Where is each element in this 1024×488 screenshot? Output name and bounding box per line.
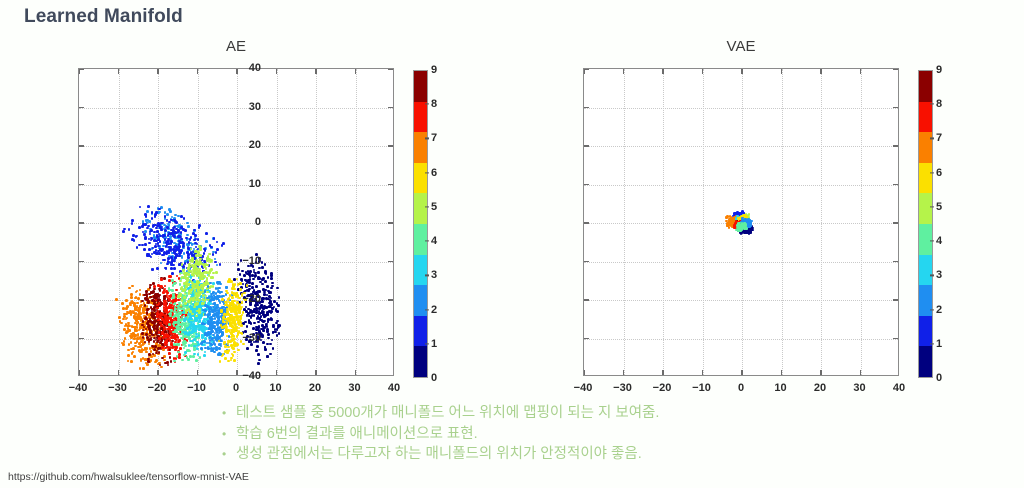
scatter-point	[218, 347, 221, 350]
axis-tick-y	[388, 338, 393, 339]
scatter-point	[260, 312, 263, 315]
scatter-point	[227, 343, 230, 346]
scatter-point	[267, 306, 270, 309]
colorbar-tick	[425, 206, 429, 207]
scatter-point	[137, 317, 140, 320]
y-axis-labels-ae: −40−30−20−10010203040	[30, 68, 74, 376]
scatter-point	[185, 341, 188, 344]
scatter-point	[156, 315, 159, 318]
scatter-point	[184, 229, 187, 232]
scatter-point	[231, 346, 234, 349]
scatter-point	[210, 277, 213, 280]
axis-tick-x	[355, 370, 356, 375]
scatter-point	[149, 233, 152, 236]
scatter-point	[190, 318, 193, 321]
scatter-point	[128, 343, 131, 346]
scatter-point	[264, 270, 267, 273]
scatter-point	[250, 322, 253, 325]
scatter-point	[122, 318, 125, 321]
scatter-point	[212, 310, 215, 313]
scatter-point	[179, 347, 182, 350]
axis-tick-y	[79, 261, 84, 262]
scatter-point	[204, 329, 207, 332]
scatter-point	[234, 283, 237, 286]
scatter-point	[216, 241, 219, 244]
scatter-point	[203, 354, 206, 357]
colorbar-tick-label: 7	[936, 132, 942, 144]
scatter-point	[269, 343, 272, 346]
y-tick-label: −30	[242, 332, 261, 344]
scatter-point	[212, 285, 215, 288]
y-tick-label: 30	[249, 101, 261, 113]
scatter-point	[174, 314, 177, 317]
scatter-point	[122, 307, 125, 310]
axis-tick-y	[893, 68, 898, 69]
scatter-point	[222, 353, 225, 356]
scatter-point	[180, 215, 183, 218]
scatter-point	[184, 262, 187, 265]
axis-tick-y	[584, 222, 589, 223]
scatter-point	[235, 295, 238, 298]
scatter-point	[227, 360, 230, 363]
bullet-text: 테스트 샘플 중 5000개가 매니폴드 어느 위치에 맵핑이 되는 지 보여줌…	[236, 404, 659, 424]
scatter-point	[197, 302, 200, 305]
scatter-point	[204, 309, 207, 312]
scatter-point	[122, 230, 125, 233]
x-tick-label: −10	[187, 382, 206, 394]
scatter-point	[272, 331, 275, 334]
axis-tick-y	[79, 145, 84, 146]
scatter-point	[276, 287, 279, 290]
scatter-point	[209, 269, 212, 272]
scatter-point	[271, 285, 274, 288]
scatter-point	[230, 332, 233, 335]
scatter-point	[253, 308, 256, 311]
scatter-point	[151, 211, 154, 214]
scatter-point	[266, 285, 269, 288]
scatter-point	[132, 332, 135, 335]
scatter-point	[205, 267, 208, 270]
scatter-point	[203, 323, 206, 326]
scatter-point	[173, 219, 176, 222]
scatter-point	[195, 250, 198, 253]
x-tick-label: −40	[574, 382, 593, 394]
scatter-point	[219, 263, 222, 266]
axis-tick-x	[157, 69, 158, 74]
x-tick-label: 30	[348, 382, 360, 394]
scatter-point	[127, 354, 130, 357]
scatter-point	[222, 242, 225, 245]
scatter-point	[115, 298, 118, 301]
scatter-point	[155, 211, 158, 214]
scatter-point	[182, 242, 185, 245]
scatter-point	[261, 266, 264, 269]
x-tick-label: 20	[309, 382, 321, 394]
scatter-point	[188, 292, 191, 295]
scatter-point	[198, 286, 201, 289]
scatter-point	[237, 295, 240, 298]
bullet-text: 학습 6번의 결과를 애니메이션으로 표현.	[236, 425, 478, 445]
scatter-point	[172, 231, 175, 234]
scatter-point	[188, 241, 191, 244]
x-tick-label: −30	[108, 382, 127, 394]
scatter-point	[186, 234, 189, 237]
colorbar-tick-label: 6	[936, 167, 942, 179]
scatter-point	[130, 348, 133, 351]
scatter-point	[202, 294, 205, 297]
scatter-point	[149, 329, 152, 332]
scatter-point	[193, 229, 196, 232]
scatter-point	[278, 296, 281, 299]
scatter-point	[224, 345, 227, 348]
scatter-point	[270, 272, 273, 275]
scatter-point	[179, 323, 182, 326]
scatter-point	[232, 354, 235, 357]
scatter-point	[198, 299, 201, 302]
scatter-point	[200, 347, 203, 350]
scatter-point	[181, 263, 184, 266]
scatter-point	[198, 311, 201, 314]
scatter-point	[179, 240, 182, 243]
scatter-point	[187, 256, 190, 259]
scatter-point	[219, 360, 222, 363]
axis-tick-y	[388, 261, 393, 262]
scatter-point	[206, 342, 209, 345]
scatter-point	[187, 267, 190, 270]
scatter-point	[133, 316, 136, 319]
scatter-point	[748, 213, 751, 216]
scatter-point	[163, 300, 166, 303]
scatter-point	[163, 259, 166, 262]
gridline-horizontal	[584, 339, 898, 340]
scatter-point	[209, 261, 212, 264]
scatter-point	[156, 307, 159, 310]
scatter-point	[164, 211, 167, 214]
scatter-point	[195, 336, 198, 339]
colorbar-band	[414, 255, 427, 286]
gridline-horizontal	[584, 262, 898, 263]
scatter-point	[238, 316, 241, 319]
scatter-point	[241, 270, 244, 273]
scatter-point	[239, 273, 242, 276]
colorbar-band	[919, 71, 932, 102]
scatter-point	[130, 313, 133, 316]
scatter-point	[157, 294, 160, 297]
scatter-point	[161, 254, 164, 257]
scatter-point	[267, 333, 270, 336]
scatter-point	[169, 312, 172, 315]
colorbar-band	[919, 285, 932, 316]
colorbar-tick-label: 5	[431, 201, 437, 213]
scatter-point	[136, 323, 139, 326]
scatter-point	[208, 253, 211, 256]
scatter-point	[269, 302, 272, 305]
scatter-point	[205, 232, 208, 235]
scatter-point	[176, 343, 179, 346]
colorbar-band	[919, 316, 932, 347]
scatter-point	[233, 359, 236, 362]
scatter-point	[183, 296, 186, 299]
colorbar-tick-label: 2	[936, 304, 942, 316]
scatter-point	[202, 298, 205, 301]
scatter-point	[238, 319, 241, 322]
scatter-point	[238, 311, 241, 314]
x-tick-label: 30	[853, 382, 865, 394]
scatter-point	[267, 276, 270, 279]
scatter-point	[257, 278, 260, 281]
scatter-point	[189, 310, 192, 313]
x-tick-label: 10	[269, 382, 281, 394]
colorbar-tick	[930, 309, 934, 310]
axis-tick-x	[741, 69, 742, 74]
scatter-point	[238, 327, 241, 330]
colorbar-tick-label: 8	[431, 98, 437, 110]
scatter-point	[244, 279, 247, 282]
scatter-point	[170, 263, 173, 266]
scatter-point	[250, 343, 253, 346]
scatter-point	[188, 344, 191, 347]
scatter-point	[154, 245, 157, 248]
scatter-point	[183, 282, 186, 285]
axis-tick-x	[118, 370, 119, 375]
scatter-point	[236, 308, 239, 311]
scatter-point	[136, 337, 139, 340]
axis-tick-x	[78, 69, 79, 74]
colorbar-tick	[930, 206, 934, 207]
scatter-point	[197, 238, 200, 241]
colorbar-tick-label: 1	[936, 338, 942, 350]
colorbar-band	[414, 193, 427, 224]
scatter-point	[270, 318, 273, 321]
colorbar-tick-label: 3	[431, 269, 437, 281]
scatter-point	[133, 355, 136, 358]
scatter-point	[228, 340, 231, 343]
scatter-point	[152, 226, 155, 229]
axis-tick-y	[584, 338, 589, 339]
scatter-point	[181, 359, 184, 362]
axis-tick-x	[236, 69, 237, 74]
scatter-point	[181, 299, 184, 302]
colorbar-band	[414, 102, 427, 133]
scatter-point	[151, 217, 154, 220]
scatter-point	[201, 336, 204, 339]
scatter-point	[206, 291, 209, 294]
scatter-point	[138, 342, 141, 345]
scatter-point	[259, 281, 262, 284]
colorbar-tick	[930, 275, 934, 276]
scatter-point	[193, 267, 196, 270]
axis-tick-x	[662, 370, 663, 375]
scatter-point	[204, 351, 207, 354]
scatter-point	[233, 292, 236, 295]
axis-tick-y	[584, 261, 589, 262]
scatter-point	[168, 275, 171, 278]
scatter-point	[255, 285, 258, 288]
scatter-point	[155, 227, 158, 230]
scatter-point	[204, 249, 207, 252]
scatter-point	[148, 248, 151, 251]
scatter-point	[203, 344, 206, 347]
scatter-plot-vae[interactable]	[583, 68, 899, 376]
colorbar-tick-label: 0	[431, 372, 437, 384]
axis-tick-x	[860, 370, 861, 375]
scatter-point	[221, 332, 224, 335]
scatter-point	[147, 308, 150, 311]
colorbar-tick-label: 4	[431, 235, 437, 247]
chart-title-vae: VAE	[583, 38, 899, 55]
axis-tick-x	[741, 370, 742, 375]
scatter-point	[206, 277, 209, 280]
scatter-point	[195, 359, 198, 362]
scatter-point	[153, 251, 156, 254]
x-tick-label: −20	[148, 382, 167, 394]
scatter-point	[199, 248, 202, 251]
scatter-point	[187, 349, 190, 352]
scatter-point	[266, 313, 269, 316]
colorbar-tick-label: 3	[936, 269, 942, 281]
y-tick-label: 10	[249, 178, 261, 190]
axis-tick-y	[388, 68, 393, 69]
colorbar-band	[919, 132, 932, 163]
scatter-point	[197, 343, 200, 346]
scatter-point	[197, 353, 200, 356]
scatter-point	[145, 215, 148, 218]
x-tick-label: −20	[653, 382, 672, 394]
scatter-point	[157, 284, 160, 287]
scatter-point	[248, 281, 251, 284]
colorbar-vae	[918, 70, 933, 378]
scatter-point	[229, 280, 232, 283]
scatter-point	[157, 222, 160, 225]
axis-tick-x	[702, 69, 703, 74]
axis-tick-y	[79, 107, 84, 108]
scatter-point	[164, 229, 167, 232]
gridline-horizontal	[584, 300, 898, 301]
colorbar-tick-label: 2	[431, 304, 437, 316]
scatter-point	[206, 305, 209, 308]
scatter-point	[150, 239, 153, 242]
scatter-point	[184, 317, 187, 320]
scatter-point	[218, 299, 221, 302]
scatter-point	[237, 268, 240, 271]
scatter-point	[262, 328, 265, 331]
scatter-point	[177, 231, 180, 234]
scatter-point	[230, 357, 233, 360]
bullet-list: •테스트 샘플 중 5000개가 매니폴드 어느 위치에 맵핑이 되는 지 보여…	[222, 404, 862, 466]
scatter-point	[239, 288, 242, 291]
scatter-point	[165, 309, 168, 312]
scatter-point	[178, 245, 181, 248]
axis-tick-y	[388, 107, 393, 108]
scatter-point	[158, 211, 161, 214]
scatter-point	[258, 359, 261, 362]
scatter-point	[125, 331, 128, 334]
scatter-point	[156, 341, 159, 344]
colorbar-tick-label: 7	[431, 132, 437, 144]
scatter-point	[261, 324, 264, 327]
scatter-point	[269, 353, 272, 356]
scatter-point	[173, 360, 176, 363]
y-tick-label: −10	[242, 255, 261, 267]
x-axis-labels-ae: −40−30−20−10010203040	[78, 380, 394, 398]
scatter-point	[160, 262, 163, 265]
axis-tick-y	[893, 338, 898, 339]
colorbar-band	[919, 193, 932, 224]
scatter-point	[191, 273, 194, 276]
x-tick-label: 0	[738, 382, 744, 394]
y-tick-label: 20	[249, 139, 261, 151]
scatter-point	[738, 227, 741, 230]
scatter-point	[194, 234, 197, 237]
scatter-point	[173, 235, 176, 238]
axis-tick-y	[388, 299, 393, 300]
scatter-point	[141, 244, 144, 247]
colorbar-tick	[425, 343, 429, 344]
scatter-point	[139, 206, 142, 209]
scatter-point	[130, 296, 133, 299]
scatter-point	[160, 366, 163, 369]
x-tick-label: −10	[692, 382, 711, 394]
gridline-horizontal	[79, 108, 393, 109]
scatter-point	[150, 296, 153, 299]
scatter-point	[261, 319, 264, 322]
scatter-point	[183, 252, 186, 255]
scatter-point	[149, 347, 152, 350]
scatter-point	[141, 300, 144, 303]
scatter-point	[177, 318, 180, 321]
colorbar-tick-label: 0	[936, 372, 942, 384]
scatter-point	[150, 229, 153, 232]
scatter-point	[164, 327, 167, 330]
scatter-point	[269, 291, 272, 294]
scatter-point	[195, 298, 198, 301]
scatter-point	[272, 347, 275, 350]
scatter-point	[159, 226, 162, 229]
axis-tick-y	[584, 68, 589, 69]
scatter-point	[168, 249, 171, 252]
scatter-point	[144, 236, 147, 239]
scatter-point	[205, 240, 208, 243]
scatter-point	[187, 300, 190, 303]
axis-tick-x	[157, 370, 158, 375]
scatter-point	[268, 295, 271, 298]
axis-tick-y	[79, 222, 84, 223]
scatter-point	[158, 337, 161, 340]
scatter-point	[136, 302, 139, 305]
scatter-point	[201, 302, 204, 305]
colorbar-tick-label: 5	[936, 201, 942, 213]
scatter-point	[197, 263, 200, 266]
scatter-point	[264, 348, 267, 351]
x-tick-label: −30	[613, 382, 632, 394]
scatter-point	[233, 351, 236, 354]
scatter-point	[186, 222, 189, 225]
scatter-plot-ae[interactable]	[78, 68, 394, 376]
scatter-point	[137, 346, 140, 349]
scatter-point	[133, 337, 136, 340]
scatter-point	[216, 264, 219, 267]
scatter-point	[215, 271, 218, 274]
bullet-item: •테스트 샘플 중 5000개가 매니폴드 어느 위치에 맵핑이 되는 지 보여…	[222, 404, 862, 424]
scatter-point	[169, 315, 172, 318]
scatter-point	[142, 367, 145, 370]
scatter-point	[208, 307, 211, 310]
page-title: Learned Manifold	[24, 6, 183, 28]
scatter-point	[202, 264, 205, 267]
axis-tick-y	[388, 222, 393, 223]
bullet-marker-icon: •	[222, 404, 236, 424]
scatter-point	[233, 288, 236, 291]
